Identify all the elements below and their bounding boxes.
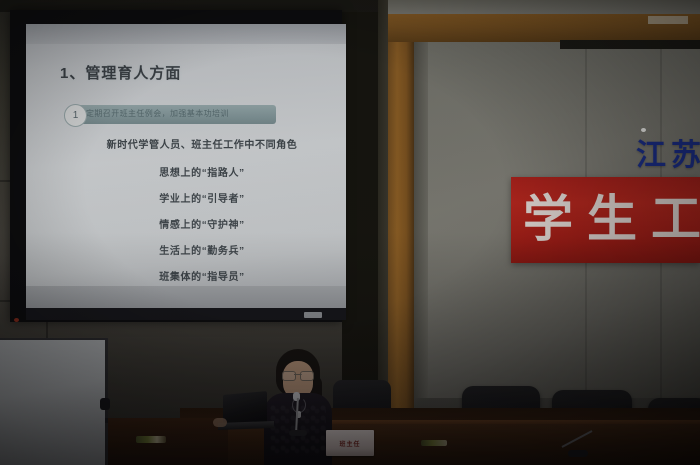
pillar-inner-edge <box>414 42 428 398</box>
table-left-section <box>108 418 228 465</box>
whiteboard <box>0 338 108 465</box>
glasses-icon <box>282 371 314 379</box>
desk-items <box>136 436 166 443</box>
slide-bullet-number: 1 <box>64 104 87 127</box>
slide-line: 学业上的“引导者” <box>42 190 346 205</box>
slide-bullet-text: 定期召开班主任例会，加强基本功培训 <box>86 108 229 119</box>
slide-line: 思想上的“指路人” <box>42 164 346 179</box>
slide-bullet-row: 定期召开班主任例会，加强基本功培训 1 <box>64 105 276 124</box>
whiteboard-knob <box>100 398 110 410</box>
projection-screen-surface: 1、管理育人方面 定期召开班主任例会，加强基本功培训 1 新时代学管人员、班主任… <box>26 24 346 320</box>
slide-line: 生活上的“勤务兵” <box>42 242 346 257</box>
screen-bottom-bar <box>26 308 346 320</box>
microphone-base <box>289 430 307 436</box>
slide-line: 情感上的“守护神” <box>42 216 346 231</box>
ceiling-gap <box>560 40 700 49</box>
red-banner: 学生工 <box>511 177 700 263</box>
screen-top-band <box>26 24 346 44</box>
desk-items <box>421 440 447 446</box>
slide-title: 1、管理育人方面 <box>60 62 181 83</box>
glasses-lens-left <box>282 371 296 381</box>
wall-characters: 江苏 <box>636 130 700 174</box>
banner-text: 学生工 <box>523 191 700 247</box>
projection-screen-frame: 1、管理育人方面 定期召开班主任例会，加强基本功培训 1 新时代学管人员、班主任… <box>10 10 342 322</box>
wooden-pillar <box>388 0 414 465</box>
screen-bottom-band <box>26 286 346 308</box>
glasses-lens-right <box>300 371 314 381</box>
microphone-base <box>568 450 588 457</box>
name-card: 班主任 <box>326 430 374 456</box>
photo-scene: 江苏 学生工 1、管理育人方面 定期召开班主任例会，加强基本功培训 1 新时代学… <box>0 0 700 465</box>
slide-body: 新时代学管人员、班主任工作中不同角色 思想上的“指路人” 学业上的“引导者” 情… <box>42 136 346 294</box>
slide-content: 1、管理育人方面 定期召开班主任例会，加强基本功培训 1 新时代学管人员、班主任… <box>42 58 346 308</box>
slide-line: 班集体的“指导员” <box>42 268 346 283</box>
name-card-text: 班主任 <box>339 439 360 448</box>
slide-heading: 新时代学管人员、班主任工作中不同角色 <box>42 136 346 151</box>
beam-label-plate <box>648 16 688 24</box>
presenter-hand <box>213 418 227 427</box>
screen-indicator-led <box>14 318 19 322</box>
screen-pull-tab <box>304 312 322 318</box>
